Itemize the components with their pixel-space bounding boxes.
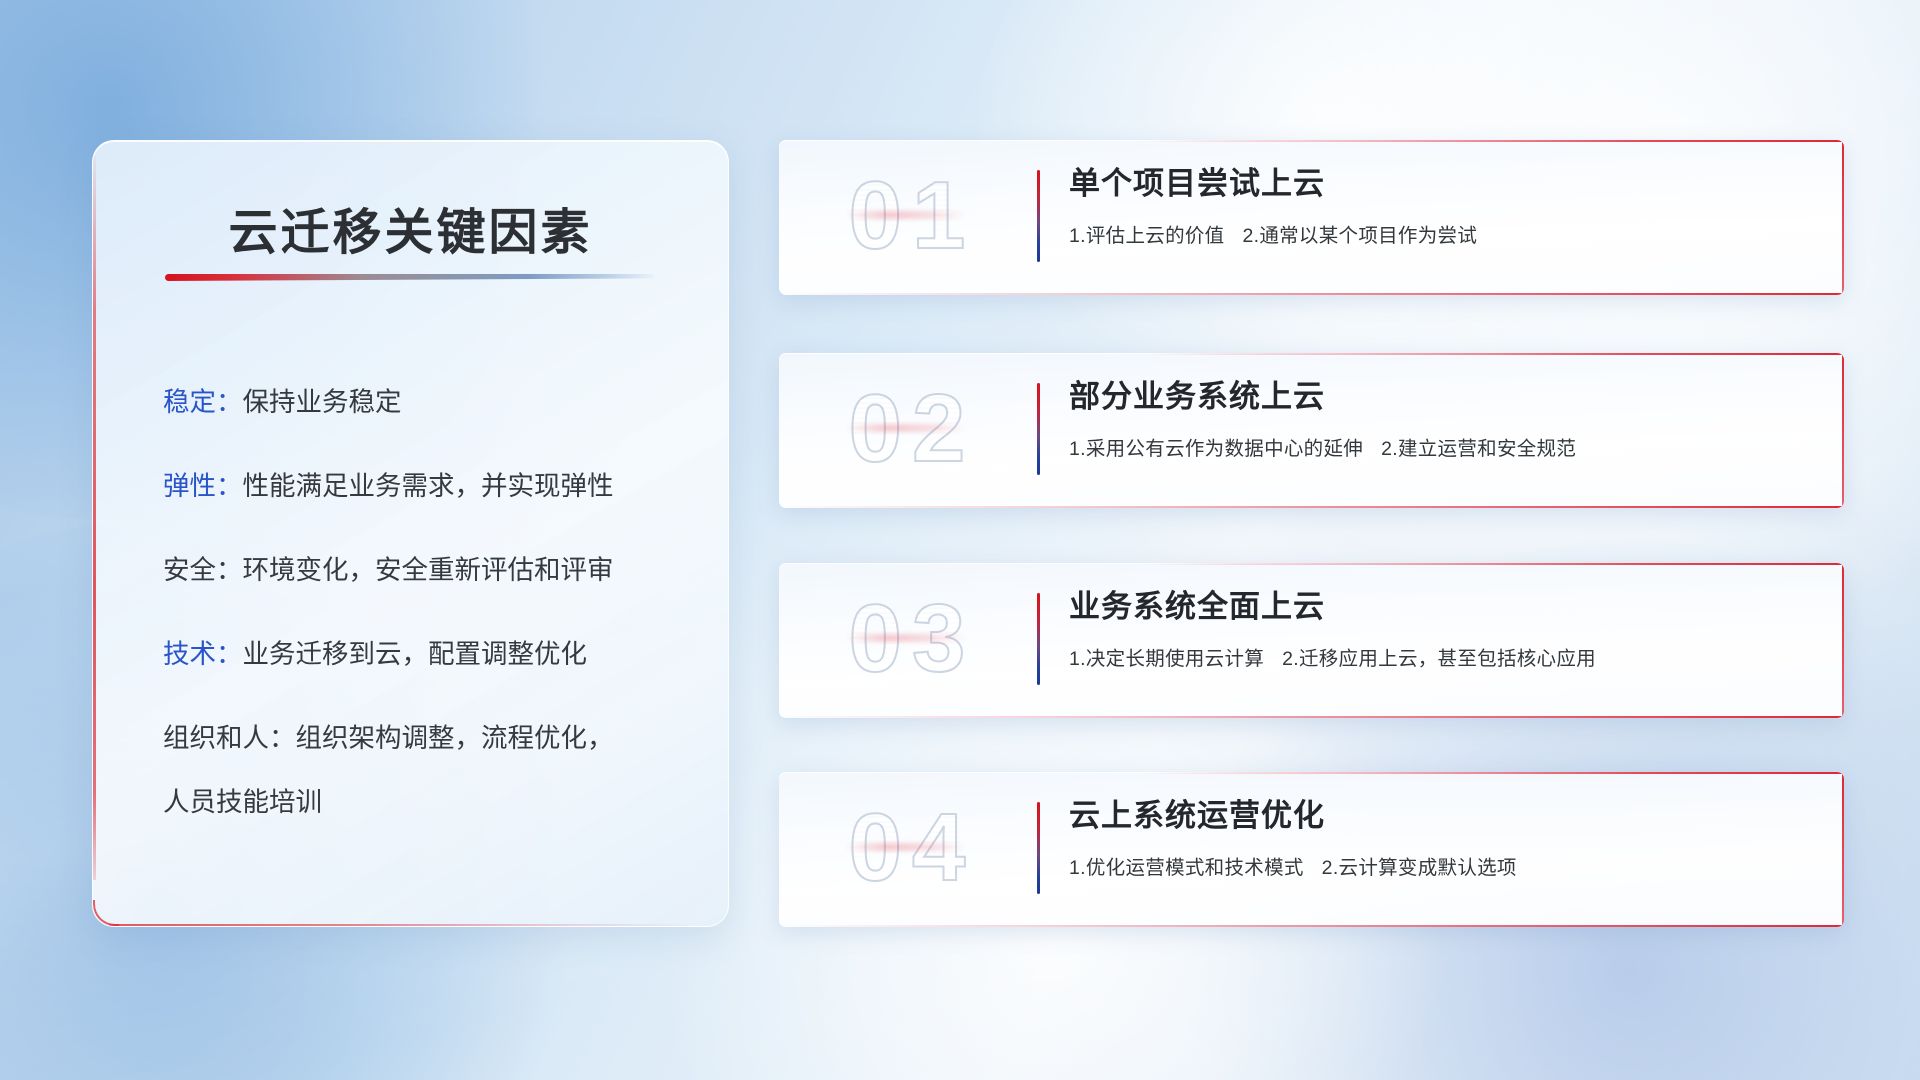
step-number-04: 04 <box>807 786 1017 910</box>
step-content-04: 云上系统运营优化 1.优化运营模式和技术模式2.云计算变成默认选项 <box>1069 796 1804 880</box>
key-factors-panel: 云迁移关键因素 稳定：保持业务稳定 弹性：性能满足业务需求，并实现弹性 安全：环… <box>92 140 729 927</box>
card-bottom-accent-line <box>779 293 1844 295</box>
step-divider-bar <box>1037 593 1040 685</box>
card-right-accent-line <box>1842 140 1844 295</box>
factor-text-organization: 组织架构调整，流程优化， <box>296 723 614 753</box>
step-number-red-tint <box>845 424 967 432</box>
step-desc-part-2: 2.通常以某个项目作为尝试 <box>1242 225 1477 247</box>
step-title-02: 部分业务系统上云 <box>1069 377 1804 417</box>
factor-item-elasticity: 弹性：性能满足业务需求，并实现弹性 <box>163 470 682 504</box>
factor-item-security: 安全：环境变化，安全重新评估和评审 <box>163 554 682 588</box>
step-desc-part-1: 1.采用公有云作为数据中心的延伸 <box>1069 438 1363 460</box>
step-content-01: 单个项目尝试上云 1.评估上云的价值2.通常以某个项目作为尝试 <box>1069 164 1804 248</box>
step-desc-part-2: 2.云计算变成默认选项 <box>1322 857 1517 879</box>
card-top-accent-line <box>1141 772 1844 774</box>
step-desc-part-1: 1.评估上云的价值 <box>1069 225 1224 247</box>
card-right-accent-line <box>1842 563 1844 718</box>
step-card-03[interactable]: 03 业务系统全面上云 1.决定长期使用云计算2.迁移应用上云，甚至包括核心应用 <box>779 563 1844 718</box>
card-right-accent-line <box>1842 772 1844 927</box>
title-underline-divider <box>165 274 655 281</box>
card-right-accent-line <box>1842 353 1844 508</box>
factor-list: 稳定：保持业务稳定 弹性：性能满足业务需求，并实现弹性 安全：环境变化，安全重新… <box>163 386 682 819</box>
card-top-accent-line <box>1141 563 1844 565</box>
step-description-03: 1.决定长期使用云计算2.迁移应用上云，甚至包括核心应用 <box>1069 642 1804 671</box>
step-content-03: 业务系统全面上云 1.决定长期使用云计算2.迁移应用上云，甚至包括核心应用 <box>1069 587 1804 671</box>
step-number-red-tint <box>845 211 967 219</box>
step-desc-part-1: 1.决定长期使用云计算 <box>1069 648 1264 670</box>
factor-text-organization-continued: 人员技能培训 <box>163 780 682 819</box>
step-divider-bar <box>1037 383 1040 475</box>
factor-item-stability: 稳定：保持业务稳定 <box>163 386 682 420</box>
step-divider-bar <box>1037 802 1040 894</box>
factor-text-elasticity: 性能满足业务需求，并实现弹性 <box>243 471 614 501</box>
step-number-01: 01 <box>807 154 1017 278</box>
step-number-red-tint <box>845 843 967 851</box>
factor-item-technology: 技术：业务迁移到云，配置调整优化 <box>163 638 682 672</box>
step-desc-part-2: 2.建立运营和安全规范 <box>1381 438 1576 460</box>
step-number-02: 02 <box>807 367 1017 491</box>
factor-label-technology: 技术： <box>163 639 243 669</box>
card-bottom-accent-line <box>779 716 1844 718</box>
factor-text-security: 环境变化，安全重新评估和评审 <box>243 555 614 585</box>
card-bottom-accent-line <box>779 925 1844 927</box>
factor-item-organization: 组织和人：组织架构调整，流程优化， <box>163 722 682 756</box>
card-top-accent-line <box>1141 140 1844 142</box>
step-desc-part-1: 1.优化运营模式和技术模式 <box>1069 857 1304 879</box>
factor-label-security: 安全： <box>163 555 243 585</box>
factor-label-elasticity: 弹性： <box>163 471 243 501</box>
card-bottom-accent-line <box>779 506 1844 508</box>
factor-label-stability: 稳定： <box>163 387 243 417</box>
step-card-02[interactable]: 02 部分业务系统上云 1.采用公有云作为数据中心的延伸2.建立运营和安全规范 <box>779 353 1844 508</box>
step-description-04: 1.优化运营模式和技术模式2.云计算变成默认选项 <box>1069 851 1804 880</box>
step-title-01: 单个项目尝试上云 <box>1069 164 1804 204</box>
step-number-03: 03 <box>807 577 1017 701</box>
step-title-03: 业务系统全面上云 <box>1069 587 1804 627</box>
page-title: 云迁移关键因素 <box>93 193 728 264</box>
step-title-04: 云上系统运营优化 <box>1069 796 1804 836</box>
step-card-04[interactable]: 04 云上系统运营优化 1.优化运营模式和技术模式2.云计算变成默认选项 <box>779 772 1844 927</box>
step-description-02: 1.采用公有云作为数据中心的延伸2.建立运营和安全规范 <box>1069 432 1804 461</box>
factor-text-stability: 保持业务稳定 <box>243 387 402 417</box>
step-divider-bar <box>1037 170 1040 262</box>
step-description-01: 1.评估上云的价值2.通常以某个项目作为尝试 <box>1069 219 1804 248</box>
step-content-02: 部分业务系统上云 1.采用公有云作为数据中心的延伸2.建立运营和安全规范 <box>1069 377 1804 461</box>
factor-text-technology: 业务迁移到云，配置调整优化 <box>243 639 588 669</box>
step-card-01[interactable]: 01 单个项目尝试上云 1.评估上云的价值2.通常以某个项目作为尝试 <box>779 140 1844 295</box>
step-desc-part-2: 2.迁移应用上云，甚至包括核心应用 <box>1282 648 1596 670</box>
step-number-red-tint <box>845 634 967 642</box>
panel-bottom-accent-border <box>109 924 694 927</box>
factor-label-organization: 组织和人： <box>163 723 296 753</box>
card-top-accent-line <box>1141 353 1844 355</box>
